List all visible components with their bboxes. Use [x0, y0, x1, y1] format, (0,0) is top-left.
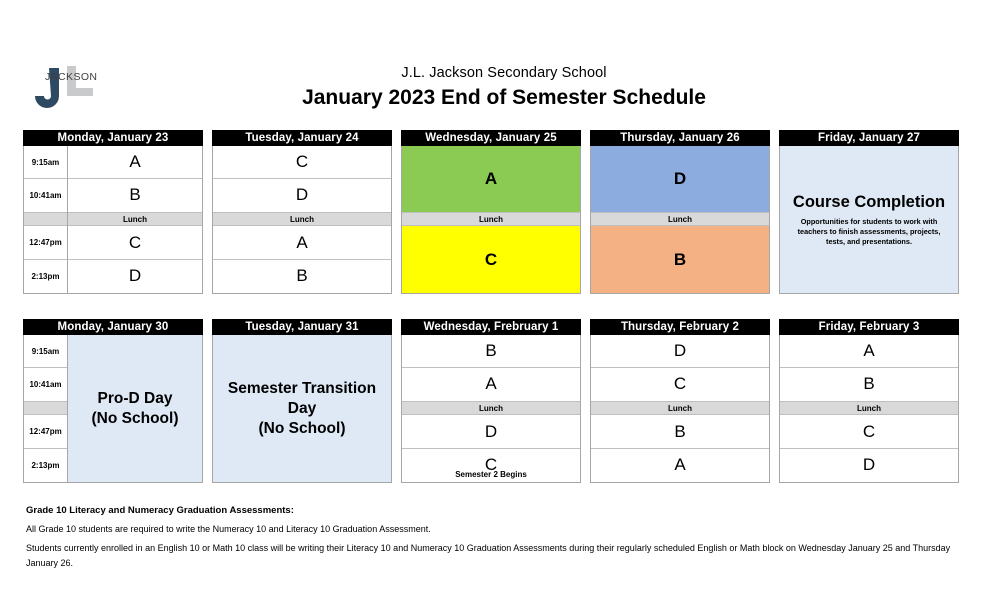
time-column: 9:15am10:41am12:47pm2:13pm	[24, 146, 68, 293]
class-block: D	[213, 179, 391, 212]
assessment-notes-title: Grade 10 Literacy and Numeracy Graduatio…	[26, 503, 976, 518]
class-block: D	[780, 449, 958, 482]
class-block: A	[402, 146, 580, 213]
class-block: A	[68, 146, 202, 179]
week-1-schedule: Monday, January 239:15am10:41am12:47pm2:…	[23, 130, 959, 294]
day-column: Tuesday, January 31Semester Transition D…	[212, 319, 392, 483]
class-block: C	[213, 146, 391, 179]
time-cell: 9:15am	[24, 335, 67, 368]
class-block: B	[591, 415, 769, 448]
day-column: Tuesday, January 24CDLunchAB	[212, 130, 392, 294]
class-block: B	[68, 179, 202, 212]
day-body: ALunchC	[401, 146, 581, 294]
day-column: Friday, February 3ABLunchCD	[779, 319, 959, 483]
class-block: D	[402, 415, 580, 448]
day-body: CDLunchAB	[212, 146, 392, 294]
lunch-block: Lunch	[591, 213, 769, 227]
class-block: B	[591, 226, 769, 293]
class-block: C	[68, 226, 202, 259]
day-body: DCLunchBA	[590, 335, 770, 483]
lunch-block: Lunch	[402, 402, 580, 416]
day-column: Thursday, February 2DCLunchBA	[590, 319, 770, 483]
class-block: B	[213, 260, 391, 293]
assessment-notes-line-2: Students currently enrolled in an Englis…	[26, 541, 976, 571]
time-cell: 9:15am	[24, 146, 67, 179]
block-list: DLunchB	[591, 146, 769, 293]
school-name: J.L. Jackson Secondary School	[0, 64, 1008, 82]
time-cell-lunch	[24, 213, 67, 227]
day-header: Wednesday, January 25	[401, 130, 581, 146]
class-block: D	[591, 146, 769, 213]
time-cell: 12:47pm	[24, 415, 67, 448]
class-block: D	[591, 335, 769, 368]
time-cell: 10:41am	[24, 368, 67, 401]
day-header: Monday, January 23	[23, 130, 203, 146]
time-cell: 2:13pm	[24, 449, 67, 482]
class-block: C	[780, 415, 958, 448]
lunch-block: Lunch	[780, 402, 958, 416]
day-caption: Semester 2 Begins	[401, 470, 581, 479]
lunch-block: Lunch	[213, 213, 391, 227]
title-block: J.L. Jackson Secondary School January 20…	[0, 64, 1008, 111]
day-header: Tuesday, January 31	[212, 319, 392, 335]
time-column: 9:15am10:41am12:47pm2:13pm	[24, 335, 68, 482]
day-header: Thursday, February 2	[590, 319, 770, 335]
day-panel: Pro-D Day(No School)	[68, 335, 202, 482]
day-column: Friday, January 27Course CompletionOppor…	[779, 130, 959, 294]
assessment-notes: Grade 10 Literacy and Numeracy Graduatio…	[26, 503, 976, 571]
assessment-notes-line-1: All Grade 10 students are required to wr…	[26, 522, 976, 537]
day-body: ABLunchCD	[779, 335, 959, 483]
day-panel-title: Course Completion	[793, 192, 945, 213]
time-cell-lunch	[24, 402, 67, 416]
page-header: JACKSON J.L. Jackson Secondary School Ja…	[0, 0, 1008, 122]
day-panel: Course CompletionOpportunities for stude…	[780, 146, 958, 293]
week-2-schedule: Monday, January 309:15am10:41am12:47pm2:…	[23, 319, 959, 483]
day-panel: Semester Transition Day(No School)	[213, 335, 391, 482]
class-block: A	[213, 226, 391, 259]
day-header: Monday, January 30	[23, 319, 203, 335]
day-body: DLunchB	[590, 146, 770, 294]
lunch-block: Lunch	[68, 213, 202, 227]
class-block: A	[780, 335, 958, 368]
day-body: 9:15am10:41am12:47pm2:13pmPro-D Day(No S…	[23, 335, 203, 483]
page-title: January 2023 End of Semester Schedule	[0, 85, 1008, 111]
class-block: C	[591, 368, 769, 401]
time-cell: 10:41am	[24, 179, 67, 212]
day-column: Monday, January 309:15am10:41am12:47pm2:…	[23, 319, 203, 483]
day-body: 9:15am10:41am12:47pm2:13pmABLunchCD	[23, 146, 203, 294]
day-body: Semester Transition Day(No School)	[212, 335, 392, 483]
time-cell: 2:13pm	[24, 260, 67, 293]
class-block: D	[68, 260, 202, 293]
class-block: A	[402, 368, 580, 401]
class-block: A	[591, 449, 769, 482]
block-list: DCLunchBA	[591, 335, 769, 482]
class-block: B	[402, 335, 580, 368]
block-list: BALunchDC	[402, 335, 580, 482]
block-list: ABLunchCD	[780, 335, 958, 482]
day-panel-title: Semester Transition Day(No School)	[219, 379, 385, 439]
day-column: Wednesday, Frebruary 1BALunchDCSemester …	[401, 319, 581, 483]
day-body: BALunchDC	[401, 335, 581, 483]
time-cell: 12:47pm	[24, 226, 67, 259]
day-column: Wednesday, January 25ALunchC	[401, 130, 581, 294]
class-block: C	[402, 226, 580, 293]
lunch-block: Lunch	[402, 213, 580, 227]
day-header: Friday, January 27	[779, 130, 959, 146]
day-column: Monday, January 239:15am10:41am12:47pm2:…	[23, 130, 203, 294]
day-column: Thursday, January 26DLunchB	[590, 130, 770, 294]
day-header: Wednesday, Frebruary 1	[401, 319, 581, 335]
day-panel-subtitle: Opportunities for students to work with …	[786, 217, 952, 247]
lunch-block: Lunch	[591, 402, 769, 416]
day-panel-title: Pro-D Day(No School)	[92, 389, 179, 429]
class-block: B	[780, 368, 958, 401]
day-header: Thursday, January 26	[590, 130, 770, 146]
block-list: ABLunchCD	[68, 146, 202, 293]
day-header: Tuesday, January 24	[212, 130, 392, 146]
block-list: CDLunchAB	[213, 146, 391, 293]
block-list: ALunchC	[402, 146, 580, 293]
day-header: Friday, February 3	[779, 319, 959, 335]
day-body: Course CompletionOpportunities for stude…	[779, 146, 959, 294]
